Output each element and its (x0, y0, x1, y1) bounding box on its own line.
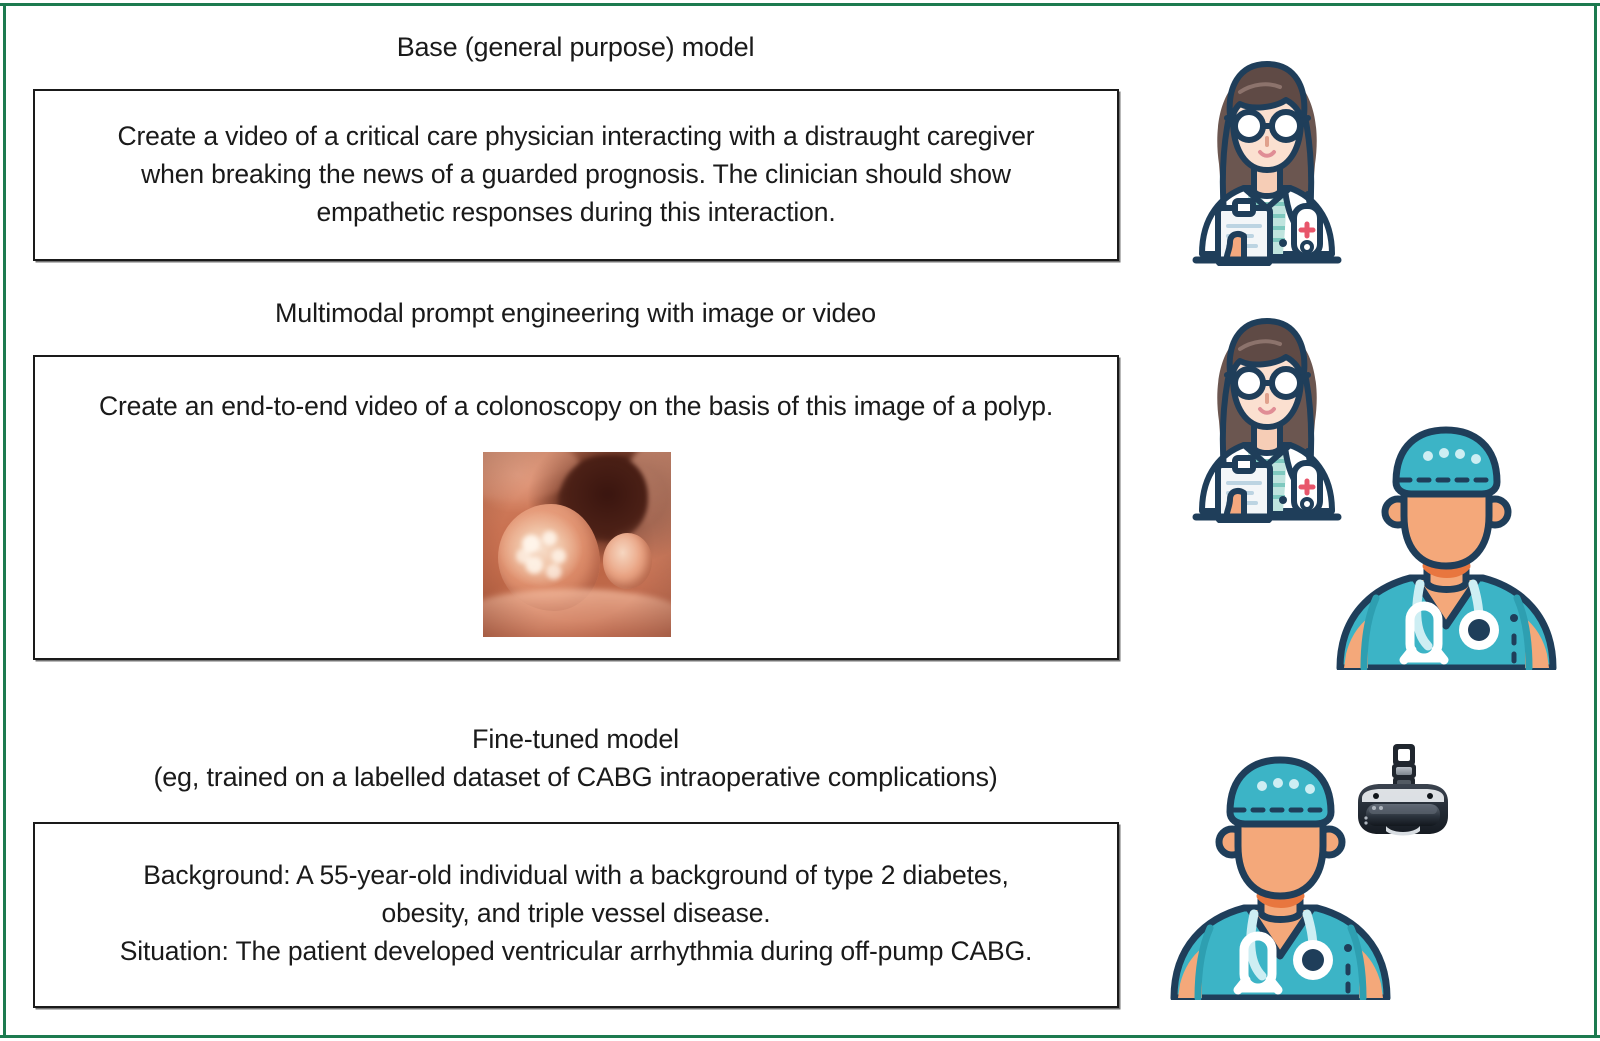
section-subheading-fine-tuned: (eg, trained on a labelled dataset of CA… (33, 758, 1118, 796)
figure-border-left (3, 3, 6, 1038)
figure-border-right (1594, 3, 1597, 1038)
figure-border-bottom (0, 1035, 1600, 1038)
prompt-line: Background: A 55-year-old individual wit… (63, 856, 1089, 894)
female-physician-icon (1182, 46, 1352, 266)
prompt-line: obesity, and triple vessel disease. (63, 894, 1089, 932)
vr-headset-icon (1348, 730, 1458, 845)
prompt-line: Create a video of a critical care physic… (63, 117, 1089, 155)
figure-border-top (0, 3, 1600, 6)
section-heading-multimodal: Multimodal prompt engineering with image… (33, 294, 1118, 332)
colonoscopy-polyp-image (483, 452, 671, 637)
prompt-box-base-model: Create a video of a critical care physic… (33, 89, 1119, 261)
prompt-line: empathetic responses during this interac… (63, 193, 1089, 231)
prompt-box-fine-tuned: Background: A 55-year-old individual wit… (33, 822, 1119, 1008)
prompt-line: Situation: The patient developed ventric… (63, 932, 1089, 970)
male-surgeon-icon (1324, 420, 1569, 670)
section-heading-fine-tuned: Fine-tuned model (33, 720, 1118, 758)
prompt-line: when breaking the news of a guarded prog… (63, 155, 1089, 193)
prompt-line: Create an end-to-end video of a colonosc… (63, 387, 1089, 425)
section-heading-base-model: Base (general purpose) model (33, 28, 1118, 66)
figure-root: Base (general purpose) model Create a vi… (0, 0, 1600, 1041)
